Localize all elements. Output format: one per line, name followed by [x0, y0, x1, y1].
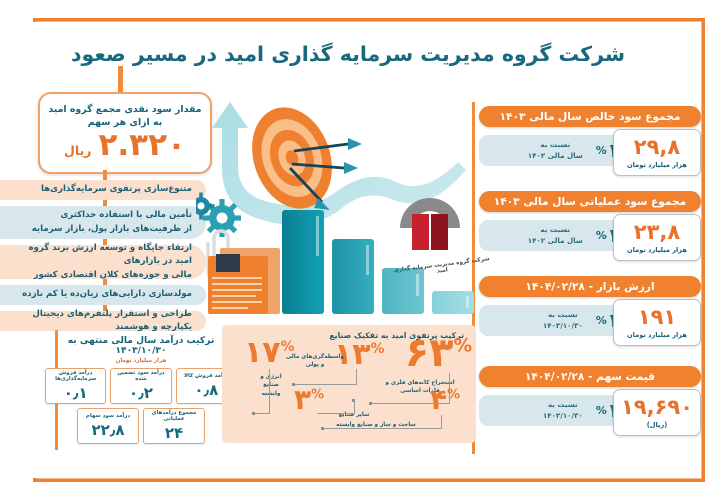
infographic-poster: شرکت گروه مدیریت سرمایه گذاری امید در مس… [0, 0, 708, 500]
strategy-text-1: متنوع‌سازی پرتفوی سرمایه‌گذاری‌ها [10, 183, 192, 196]
stat-value-1: ۲۹,۸ [634, 137, 680, 158]
stat-value-unit-3: هزار میلیارد تومان [627, 331, 687, 339]
stat-header-4: قیمت سهم - ۱۴۰۴/۰۲/۲۸ [479, 366, 701, 387]
dividend-connector [118, 66, 123, 93]
portfolio-dot-4 [321, 427, 324, 430]
percent-symbol-3: % [596, 314, 607, 327]
income-cell-value-1: ۰٫۸ [194, 381, 218, 399]
growth-illustration: شرکت گروه مدیریت سرمایه گذاری امید [196, 96, 488, 314]
stat-body-3: ۲۰ % نسبت به ۱۴۰۳/۱۰/۳۰ ۱۹۱ هزار میلیارد… [479, 301, 701, 346]
stat-header-1: مجموع سود خالص سال مالی ۱۴۰۳ [479, 106, 701, 127]
strategy-item-5: طراحی و استقرار پلتفرم‌های دیجیتال یکپار… [0, 311, 206, 331]
percent-symbol-2: % [596, 229, 607, 242]
income-cell-header-2: درآمد سود تضمین شده [111, 370, 170, 383]
portfolio-leader-2b [254, 413, 270, 414]
dividend-amount-row: ۲.۳۲۰ ریال [40, 129, 210, 162]
portfolio-leader-3 [356, 369, 357, 385]
percent-symbol-4: % [596, 404, 607, 417]
page-title: شرکت گروه مدیریت سرمایه گذاری امید در مس… [48, 42, 648, 66]
strategy-text-3: ارتقاء جایگاه و توسعه ارزش برند گروه امی… [10, 242, 192, 282]
portfolio-label-2: انرژی و صنایع وابسته [256, 373, 286, 398]
strategy-item-4: مولدسازی دارایی‌های زیان‌ده یا کم بازده [0, 285, 206, 305]
income-cell-header-4: مجموع درآمدهای عملیاتی [144, 410, 204, 423]
income-cell-value-3: ۰٫۱ [64, 384, 88, 402]
stat-value-unit-2: هزار میلیارد تومان [627, 246, 687, 254]
strategy-text-5: طراحی و استقرار پلتفرم‌های دیجیتال یکپار… [10, 308, 192, 335]
compare-line1-1: نسبت به [540, 140, 570, 149]
portfolio-leader-4b [322, 428, 442, 429]
income-table-row-1: درآمد فروش کالا ۰٫۸ درآمد سود تضمین شده … [45, 368, 237, 404]
portfolio-number-1: ۶۳ [405, 330, 454, 376]
stat-value-box-3: ۱۹۱ هزار میلیارد تومان [613, 299, 701, 346]
strategy-item-2: تأمین مالی با استفاده حداکثری از ظرفیت‌ه… [0, 206, 206, 239]
portfolio-pct-3: % [371, 341, 385, 357]
stat-value-unit-4: (ریال) [647, 421, 668, 429]
portfolio-number-2: ۱۷ [244, 335, 281, 370]
portfolio-value-4: ۴% [430, 387, 460, 412]
income-cell-header-3: درآمد فروش سرمایه‌گذاری‌ها [46, 370, 105, 383]
stat-card-share-price: قیمت سهم - ۱۴۰۴/۰۲/۲۸ ۲۰ % نسبت به ۱۴۰۳/… [479, 366, 701, 436]
stat-header-2: مجموع سود عملیاتی سال مالی ۱۴۰۳ [479, 191, 701, 212]
compare-line1-2: نسبت به [540, 225, 570, 234]
income-cell-2: درآمد سود تضمین شده ۰٫۲ [110, 368, 171, 404]
stat-value-box-2: ۲۳,۸ هزار میلیارد تومان [613, 214, 701, 261]
portfolio-pct-5: % [311, 388, 324, 403]
stat-card-net-profit: مجموع سود خالص سال مالی ۱۴۰۳ ۳۶ % نسبت ب… [479, 106, 701, 176]
stat-value-4: ۱۹,۶۹۰ [621, 397, 693, 418]
documents-icon [208, 248, 280, 314]
income-cell-value-4: ۲۴ [165, 424, 183, 442]
compare-line2-1: سال مالی ۱۴۰۲ [528, 151, 583, 160]
dividend-card: مقدار سود نقدی مجمع گروه امید به ازای هر… [38, 92, 212, 174]
strategy-text-4: مولدسازی دارایی‌های زیان‌ده یا کم بازده [10, 288, 192, 301]
income-cell-value-2: ۰٫۲ [129, 384, 153, 402]
dividend-unit: ریال [64, 143, 91, 158]
portfolio-pct-1: % [454, 336, 472, 357]
stat-header-3: ارزش بازار - ۱۴۰۴/۰۲/۲۸ [479, 276, 701, 297]
income-cell-4: مجموع درآمدهای عملیاتی ۲۴ [143, 408, 205, 444]
portfolio-leader-2 [269, 369, 270, 413]
stat-body-2: ۲۶ % نسبت به سال مالی ۱۴۰۲ ۲۳,۸ هزار میل… [479, 216, 701, 261]
compare-line2-2: سال مالی ۱۴۰۲ [528, 236, 583, 245]
stat-body-4: ۲۰ % نسبت به ۱۴۰۳/۱۰/۳۰ ۱۹,۶۹۰ (ریال) [479, 391, 701, 436]
income-cell-header-5: درآمد سود سهام [84, 413, 132, 419]
stat-card-operating-profit: مجموع سود عملیاتی سال مالی ۱۴۰۳ ۲۶ % نسب… [479, 191, 701, 261]
portfolio-value-5: ۳% [294, 387, 324, 412]
strategy-item-1: متنوع‌سازی پرتفوی سرمایه‌گذاری‌ها [0, 180, 206, 200]
portfolio-leader-4 [441, 415, 442, 428]
portfolio-leader-5b [354, 401, 355, 414]
strategy-text-2: تأمین مالی با استفاده حداکثری از ظرفیت‌ه… [10, 209, 192, 236]
stat-compare-text-4: نسبت به ۱۴۰۳/۱۰/۳۰ [543, 400, 583, 421]
stat-value-2: ۲۳,۸ [634, 222, 680, 243]
portfolio-breakdown: ترکیب پرتفوی امید به تفکیک صنایع ۶۳% است… [222, 325, 476, 443]
stat-card-market-value: ارزش بازار - ۱۴۰۴/۰۲/۲۸ ۲۰ % نسبت به ۱۴۰… [479, 276, 701, 346]
income-table-title: ترکیب درآمد سال مالی منتهی به ۱۴۰۳/۱۰/۳۰ [45, 336, 237, 356]
strategy-item-3: ارتقاء جایگاه و توسعه ارزش برند گروه امی… [0, 245, 206, 279]
portfolio-leader-5 [317, 413, 355, 414]
portfolio-dot-5 [352, 399, 355, 402]
stat-body-1: ۳۶ % نسبت به سال مالی ۱۴۰۲ ۲۹,۸ هزار میل… [479, 131, 701, 176]
portfolio-value-1: ۶۳% [405, 335, 472, 371]
portfolio-number-5: ۳ [294, 383, 311, 416]
compare-line1-4: نسبت به [548, 400, 578, 409]
dividend-label-line1: مقدار سود نقدی مجمع گروه امید [40, 103, 210, 117]
dividend-amount: ۲.۳۲۰ [98, 129, 185, 162]
dividend-label-line2: به ازای هر سهم [40, 117, 210, 128]
stat-value-3: ۱۹۱ [638, 307, 676, 328]
portfolio-dot-1 [369, 402, 372, 405]
income-table-row-2: مجموع درآمدهای عملیاتی ۲۴ درآمد سود سهام… [45, 408, 237, 444]
income-cell-value-5: ۲۲٫۸ [91, 421, 124, 439]
compare-line1-3: نسبت به [548, 310, 578, 319]
stat-compare-text-1: نسبت به سال مالی ۱۴۰۲ [528, 140, 583, 161]
income-table-subtitle: هزار میلیارد تومان [45, 358, 237, 364]
stat-value-box-1: ۲۹,۸ هزار میلیارد تومان [613, 129, 701, 176]
compare-line2-4: ۱۴۰۳/۱۰/۳۰ [543, 411, 583, 420]
compare-line2-3: ۱۴۰۳/۱۰/۳۰ [543, 321, 583, 330]
income-cell-3: درآمد فروش سرمایه‌گذاری‌ها ۰٫۱ [45, 368, 106, 404]
stat-compare-text-2: نسبت به سال مالی ۱۴۰۲ [528, 225, 583, 246]
portfolio-pct-4: % [447, 388, 460, 403]
income-table: ترکیب درآمد سال مالی منتهی به ۱۴۰۳/۱۰/۳۰… [45, 336, 237, 444]
stat-value-box-4: ۱۹,۶۹۰ (ریال) [613, 389, 701, 436]
company-logo [400, 198, 460, 250]
portfolio-label-3: واسطه‌گری‌های مالی و پولی [284, 353, 346, 370]
percent-symbol-1: % [596, 144, 607, 157]
portfolio-number-4: ۴ [430, 383, 447, 416]
stat-compare-text-3: نسبت به ۱۴۰۳/۱۰/۳۰ [543, 310, 583, 331]
income-cell-5: درآمد سود سهام ۲۲٫۸ [77, 408, 139, 444]
stat-value-unit-1: هزار میلیارد تومان [627, 161, 687, 169]
